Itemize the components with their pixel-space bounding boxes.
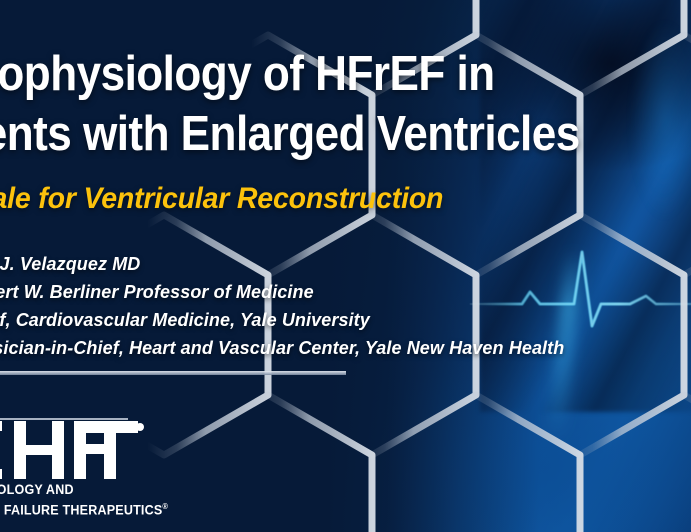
registered-mark: ®: [162, 502, 168, 511]
logo-rule: [0, 418, 128, 420]
chft-logomark-icon: [0, 421, 146, 479]
presenter-role: Physician-in-Chief, Heart and Vascular C…: [0, 334, 691, 362]
logo-wordmark-text: CARDIOLOGY AND HEART FAILURE THERAPEUTIC…: [0, 482, 162, 518]
page-subtitle: Rationale for Ventricular Reconstruction: [0, 180, 691, 218]
slide-content: Pathophysiology of HFrEF in Patients wit…: [0, 0, 691, 532]
presenter-name: Eric J. Velazquez MD: [0, 250, 691, 278]
presentation-title-slide: Pathophysiology of HFrEF in Patients wit…: [0, 0, 691, 532]
presenter-title-1: Robert W. Berliner Professor of Medicine: [0, 278, 691, 306]
logo-wordmark: CARDIOLOGY AND HEART FAILURE THERAPEUTIC…: [0, 481, 179, 519]
presenter-affiliation: Chief, Cardiovascular Medicine, Yale Uni…: [0, 306, 691, 334]
page-title: Pathophysiology of HFrEF in Patients wit…: [0, 44, 678, 164]
divider: [0, 371, 346, 375]
presenter-block: Eric J. Velazquez MD Robert W. Berliner …: [0, 250, 691, 362]
